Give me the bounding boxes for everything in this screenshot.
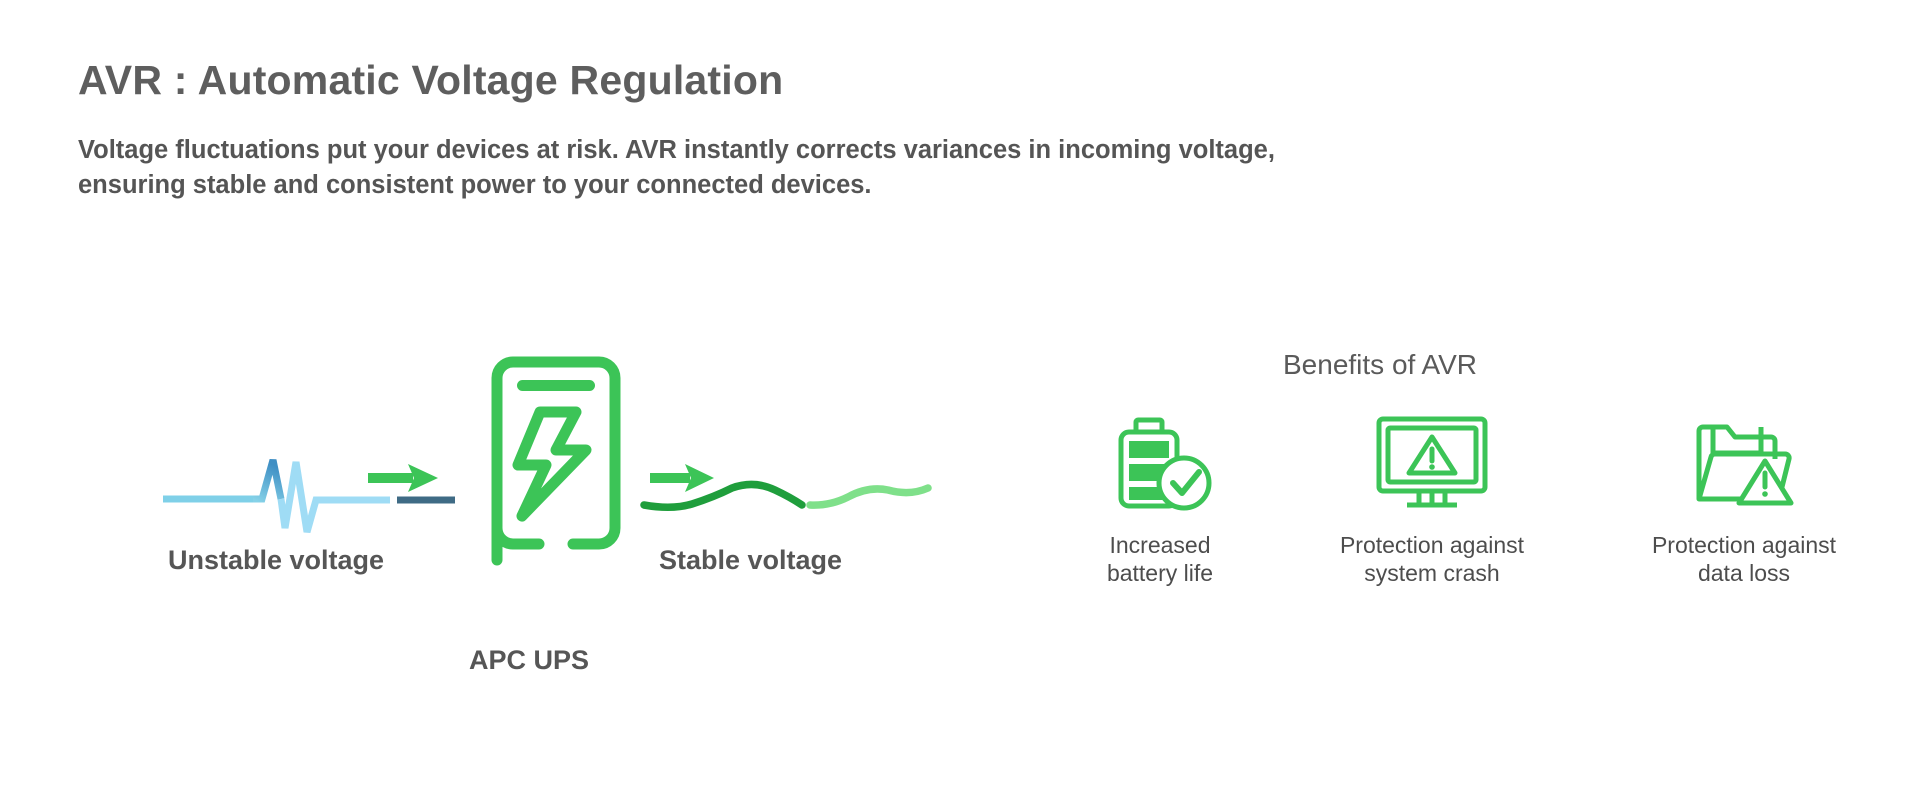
battery-check-icon <box>1104 410 1216 515</box>
apc-ups-label: APC UPS <box>469 645 589 676</box>
benefit-item-monitor: Protection against system crash <box>1307 410 1557 587</box>
benefit-label: Increased battery life <box>1107 531 1213 587</box>
monitor-warning-icon <box>1371 410 1493 515</box>
benefit-label: Protection against system crash <box>1340 531 1524 587</box>
header-block: AVR : Automatic Voltage Regulation Volta… <box>78 58 1478 202</box>
benefit-item-folder: Protection against data loss <box>1619 410 1869 587</box>
lightning-bolt-icon <box>518 412 586 516</box>
unstable-voltage-label: Unstable voltage <box>168 545 384 576</box>
slide-canvas: AVR : Automatic Voltage Regulation Volta… <box>0 0 1920 787</box>
benefit-item-battery: Increased battery life <box>1075 410 1245 587</box>
benefits-heading: Benefits of AVR <box>1283 349 1477 381</box>
arrow-right-icon <box>368 464 438 492</box>
stable-voltage-label: Stable voltage <box>659 545 842 576</box>
page-subtitle: Voltage fluctuations put your devices at… <box>78 133 1368 202</box>
benefits-list: Increased battery life Pr <box>1075 410 1869 587</box>
ups-tower-icon <box>497 362 615 560</box>
arrow-right-icon <box>650 464 714 492</box>
ups-vent-bar <box>517 380 595 391</box>
benefit-label: Protection against data loss <box>1652 531 1836 587</box>
stable-sine-wave-icon <box>644 484 928 507</box>
folder-warning-icon <box>1683 410 1805 515</box>
page-title: AVR : Automatic Voltage Regulation <box>78 58 1478 103</box>
